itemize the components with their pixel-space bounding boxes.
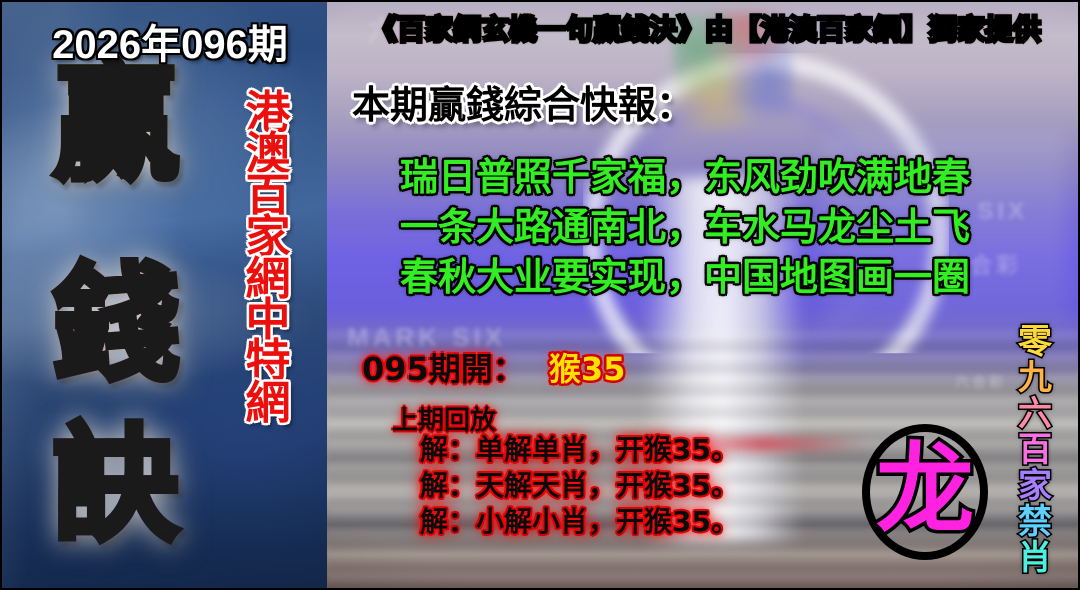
banner-segment-exclusive: 獨家提供 [929,10,1041,50]
right-vertical-char: 零 [1000,324,1070,360]
left-vertical-brand-text: 港 澳 百 家 網 中 特 網 [222,92,314,423]
poem-line: 春秋大业要实现，中国地图画一圈 [400,252,1020,302]
headline: 本期贏錢綜合快報： [352,74,694,129]
brand-char-money: 錢 [36,262,196,388]
right-vertical-char: 九 [1000,360,1070,396]
draw-result-label: 095期開： [362,350,525,388]
right-vertical-char: 禁 [1000,504,1070,540]
zodiac-seal: 龙 [862,424,988,560]
left-vertical-char: 網 [222,382,314,423]
banner-segment-title: 《百家網玄機一句贏錢決》 [369,10,705,50]
right-vertical-column: 零 九 六 百 家 禁 肖 [1000,324,1070,576]
poem-line: 瑞日普照千家福，东风劲吹满地春 [400,152,1020,202]
right-vertical-char: 六 [1000,396,1070,432]
poem-line: 一条大路通南北，车水马龙尘土飞 [400,202,1020,252]
replay-explanation-line: 解：小解小肖，开猴35。 [420,504,739,540]
right-vertical-char: 百 [1000,432,1070,468]
brand-char-win: 贏 [36,62,196,188]
zodiac-character: 龙 [862,422,988,558]
right-vertical-char: 肖 [1000,540,1070,576]
brand-char-secret: 訣 [36,422,196,548]
year-issue-label: 2026年096期 [20,12,320,70]
replay-explanation-line: 解：天解天肖，开猴35。 [420,468,739,504]
draw-result-row: 095期開：猴35 [362,348,625,390]
banner-segment-source: 由【港澳百家網】 [705,10,929,50]
replay-explanation-line: 解：单解单肖，开猴35。 [420,432,739,468]
replay-explanation-list: 解：单解单肖，开猴35。 解：天解天肖，开猴35。 解：小解小肖，开猴35。 [420,432,739,540]
top-banner: 《百家網玄機一句贏錢決》由【港澳百家網】獨家提供 [335,10,1075,50]
poster-canvas: 2026年096期 贏 錢 訣 港 澳 百 家 網 中 特 網 MARK SIX… [0,0,1080,590]
draw-result-value: 猴35 [549,350,626,388]
left-panel: 2026年096期 贏 錢 訣 港 澳 百 家 網 中 特 網 [0,0,327,590]
poem-block: 瑞日普照千家福，东风劲吹满地春 一条大路通南北，车水马龙尘土飞 春秋大业要实现，… [400,152,1020,302]
right-vertical-char: 家 [1000,468,1070,504]
